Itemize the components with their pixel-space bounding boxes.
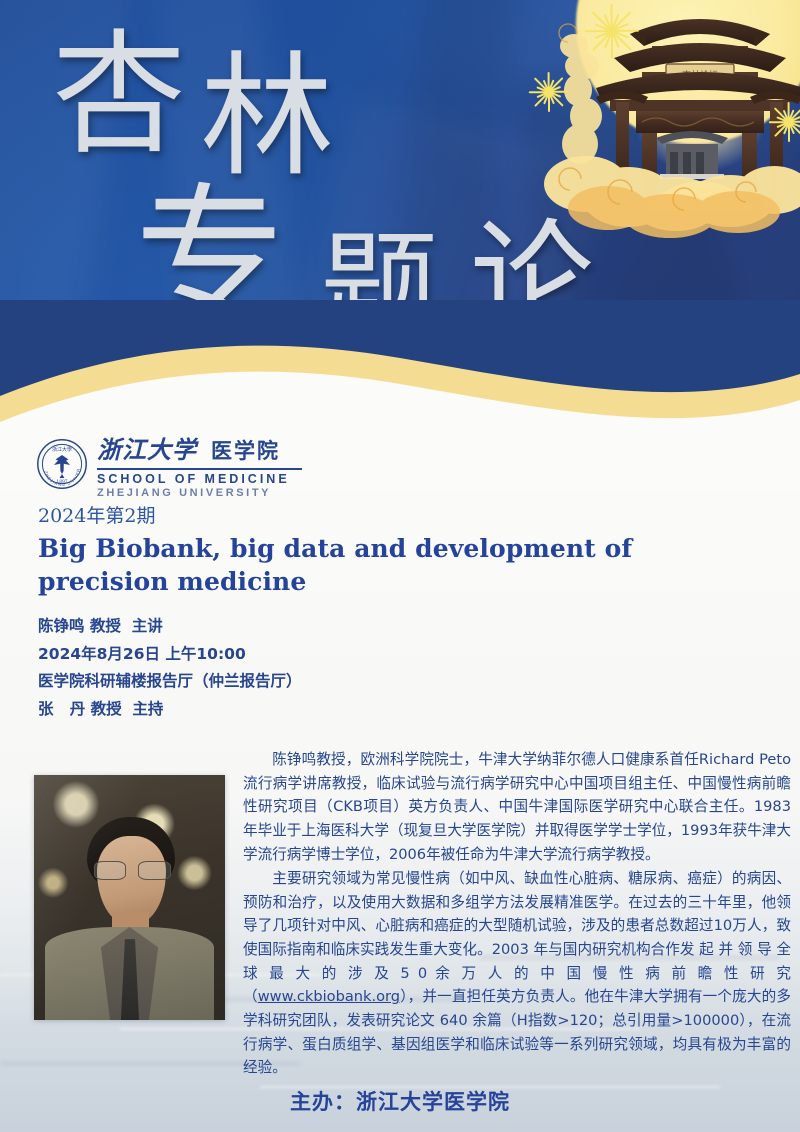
host-line: 张 丹 教授 主持 (38, 696, 498, 724)
speaker-portrait (34, 775, 225, 1020)
issue-label: 2024年第2期 (38, 501, 155, 528)
logo-school-en: SCHOOL OF MEDICINE (97, 472, 302, 486)
firework-icon (584, 4, 638, 58)
lecture-title: Big Biobank, big data and development of… (38, 533, 678, 598)
zhejiang-university-seal-icon: 浙江大學 1897 ZHEJIANG UNIVERSITY (36, 438, 88, 490)
bio-paragraph-1: 陈铮鸣教授，欧洲科学院院士，牛津大学纳菲尔德人口健康系首任Richard Pet… (243, 748, 791, 866)
datetime-line: 2024年8月26日 上午10:00 (38, 641, 498, 669)
venue-line: 医学院科研辅楼报告厅（仲兰报告厅） (38, 668, 498, 696)
event-details: 陈铮鸣 教授 主讲 2024年8月26日 上午10:00 医学院科研辅楼报告厅（… (38, 613, 498, 723)
speaker-biography: 陈铮鸣教授，欧洲科学院院士，牛津大学纳菲尔德人口健康系首任Richard Pet… (243, 748, 791, 1080)
firework-icon (768, 102, 800, 142)
logo-text-block: 浙江大学 医学院 SCHOOL OF MEDICINE ZHEJIANG UNI… (97, 430, 302, 499)
series-title-char: 林 (200, 50, 334, 184)
logo-school-cn: 医学院 (211, 435, 280, 465)
logo-university-cn: 浙江大学 (97, 430, 197, 465)
organizer-footer: 主办：浙江大学医学院 (0, 1086, 800, 1116)
zju-medicine-logo: 浙江大學 1897 ZHEJIANG UNIVERSITY 浙江大学 医学院 S… (36, 430, 302, 499)
logo-university-en: ZHEJIANG UNIVERSITY (97, 487, 302, 499)
bio-p2-part-a: 主要研究领域为常见慢性病（如中风、缺血性心脏病、糖尿病、癌症）的病因、预防和治疗… (243, 870, 791, 1005)
series-title-char: 杏 (52, 28, 186, 162)
speaker-line: 陈铮鸣 教授 主讲 (38, 613, 498, 641)
firework-icon (528, 72, 568, 112)
poster: 杏林论坛 (0, 0, 800, 1132)
logo-divider (97, 468, 302, 470)
svg-text:浙江大學: 浙江大學 (52, 446, 72, 453)
logo-chinese-line: 浙江大学 医学院 (97, 430, 302, 465)
bio-url: www.ckbiobank.org (258, 988, 400, 1005)
bio-paragraph-2: 主要研究领域为常见慢性病（如中风、缺血性心脏病、糖尿病、癌症）的病因、预防和治疗… (243, 867, 791, 1080)
